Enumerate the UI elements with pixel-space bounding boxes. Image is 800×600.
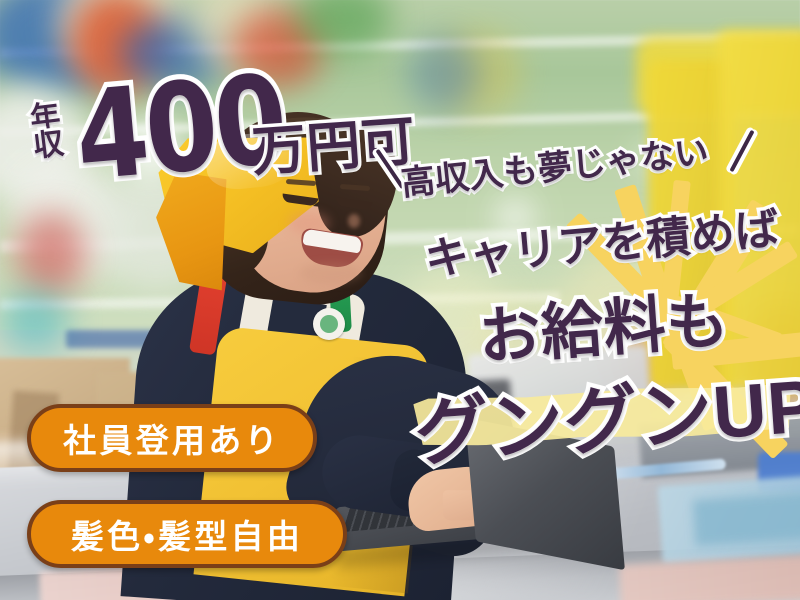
badge-employee-promotion[interactable]: 社員登用あり — [27, 404, 317, 472]
badge-hair-freedom[interactable]: 髪色・髪型自由 — [27, 500, 347, 568]
recruitment-banner: 年 収 400 万円可 高収入も夢じゃない キャリアを積めば お給料も グングン… — [0, 0, 800, 600]
burst-ray — [660, 180, 691, 313]
burst-rays — [540, 0, 800, 390]
nose — [348, 214, 360, 228]
name-badge — [313, 308, 345, 340]
chin-shadow — [300, 262, 362, 284]
